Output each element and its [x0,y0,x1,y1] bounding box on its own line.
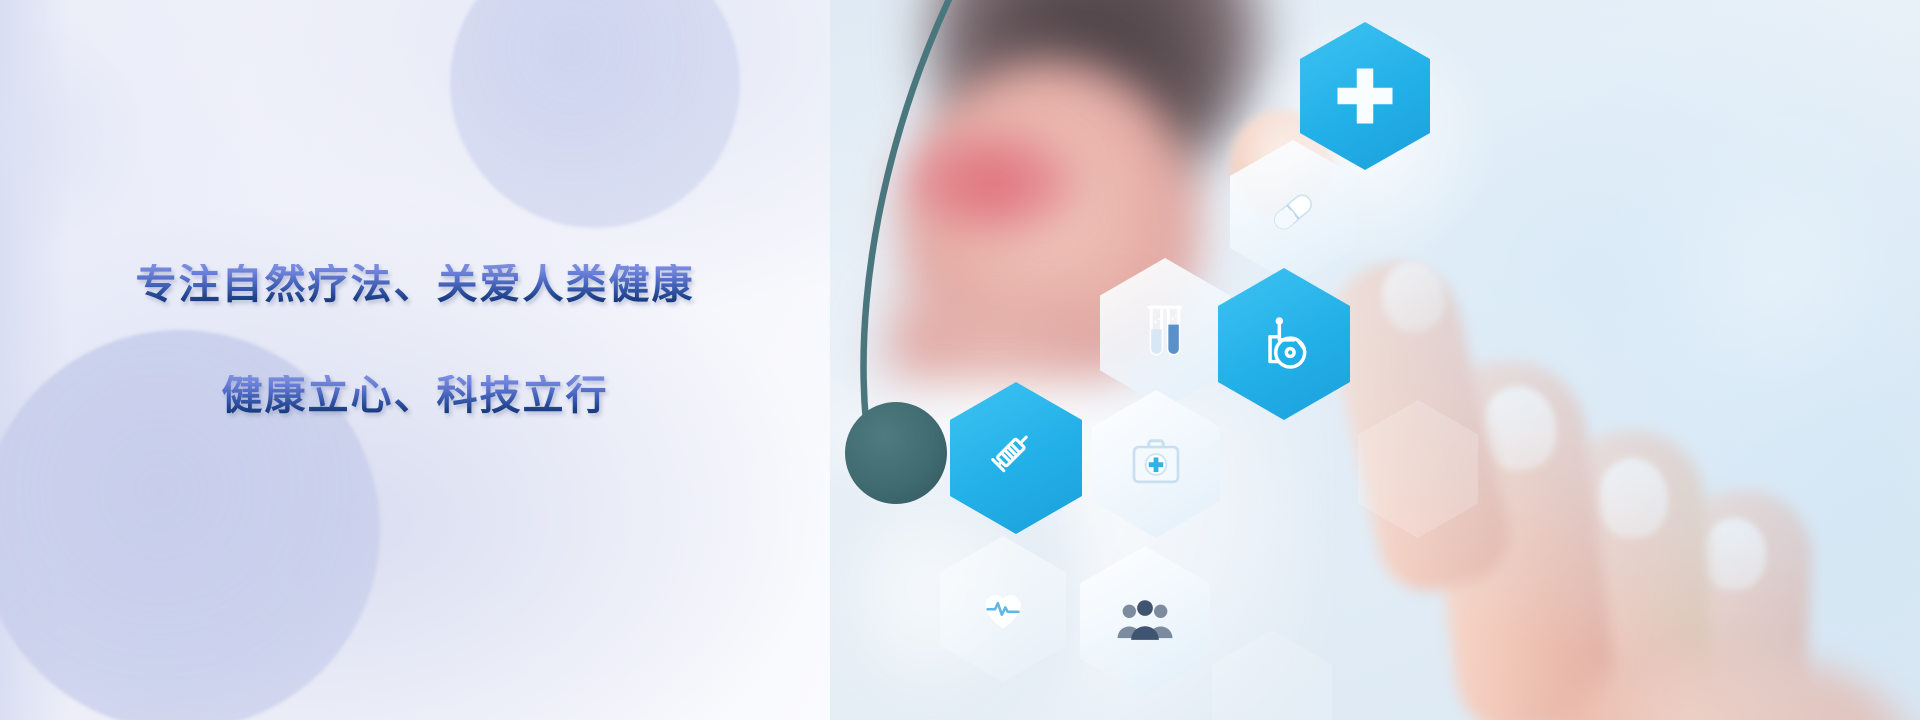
headline-line-2: 健康立心、科技立行 [222,375,609,416]
people-group-icon [1115,595,1175,647]
test-tubes-icon [1136,302,1194,364]
hex-people-group[interactable] [1080,546,1210,696]
hex-decor-right [1358,400,1478,538]
hex-syringe[interactable] [950,382,1082,534]
teal-arc-dot [845,402,947,504]
hero-banner: 专注自然疗法、关爱人类健康 健康立心、科技立行 [0,0,1920,720]
hex-wheelchair[interactable] [1218,268,1350,420]
wheelchair-icon [1253,313,1315,375]
medical-cross-icon [1332,63,1398,129]
hex-test-tubes[interactable] [1100,258,1230,408]
hex-decor-bottom [1212,630,1332,720]
hex-medical-bag[interactable] [1092,390,1220,538]
heart-icon [975,581,1031,637]
headline-block: 专注自然疗法、关爱人类健康 健康立心、科技立行 [0,0,830,720]
medical-bag-icon [1127,435,1185,493]
pill-capsule-icon [1263,182,1323,242]
syringe-icon [985,427,1047,489]
hex-icon-grid [830,0,1920,720]
hex-heart[interactable] [940,536,1066,682]
headline-line-1: 专注自然疗法、关爱人类健康 [136,264,695,305]
